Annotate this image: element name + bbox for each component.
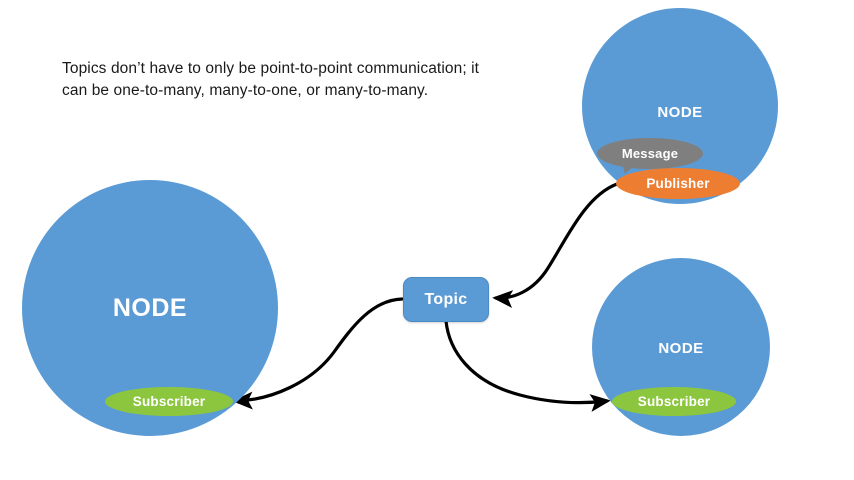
subscriber-pill-left-label: Subscriber (133, 394, 206, 409)
topic-box[interactable]: Topic (403, 277, 489, 322)
caption-text: Topics don’t have to only be point-to-po… (62, 58, 482, 103)
subscriber-pill-right-label: Subscriber (638, 394, 711, 409)
message-pill[interactable]: Message (597, 138, 703, 169)
message-pill-label: Message (622, 146, 678, 161)
publisher-pill-label: Publisher (646, 176, 709, 191)
node-left-subscriber-label: NODE (22, 294, 278, 323)
node-right-subscriber-label: NODE (592, 340, 770, 357)
publisher-pill[interactable]: Publisher (616, 168, 740, 199)
subscriber-pill-left[interactable]: Subscriber (105, 387, 233, 416)
topic-box-label: Topic (425, 291, 468, 309)
edge-topic-to-right-subscriber (446, 321, 607, 403)
diagram-canvas: Topics don’t have to only be point-to-po… (0, 0, 854, 480)
node-publisher-label: NODE (582, 104, 778, 121)
edge-publisher-to-topic (496, 184, 617, 298)
subscriber-pill-right[interactable]: Subscriber (612, 387, 736, 416)
